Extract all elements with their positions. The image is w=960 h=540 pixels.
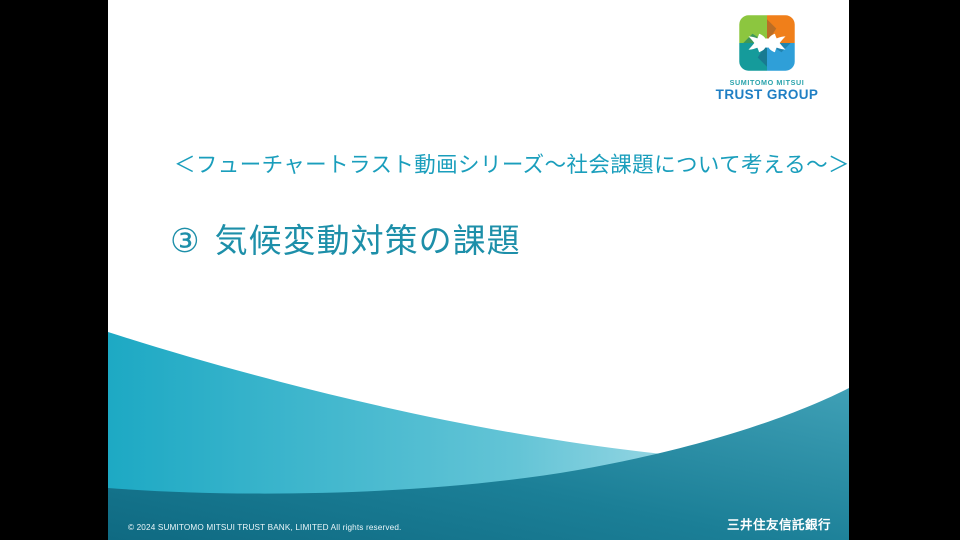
logo-sub-text: SUMITOMO MITSUI (707, 79, 827, 86)
slide-canvas: SUMITOMO MITSUI TRUST GROUP ＜フューチャートラスト動… (108, 0, 849, 540)
screen: SUMITOMO MITSUI TRUST GROUP ＜フューチャートラスト動… (0, 0, 960, 540)
copyright-notice: © 2024 SUMITOMO MITSUI TRUST BANK, LIMIT… (128, 523, 401, 532)
corporate-logo: SUMITOMO MITSUI TRUST GROUP (707, 10, 827, 102)
bank-name-label: 三井住友信託銀行 (727, 514, 831, 533)
sumitomo-mitsui-trust-flower-icon (734, 10, 800, 76)
wave-decoration (108, 310, 849, 540)
slide-title-number: ③ (170, 222, 201, 259)
slide-subtitle: ＜フューチャートラスト動画シリーズ～社会課題について考える～＞ (174, 148, 794, 179)
slide-title: ③気候変動対策の課題 (170, 214, 521, 262)
logo-main-text: TRUST GROUP (707, 88, 827, 102)
slide-title-text: 気候変動対策の課題 (215, 222, 521, 259)
